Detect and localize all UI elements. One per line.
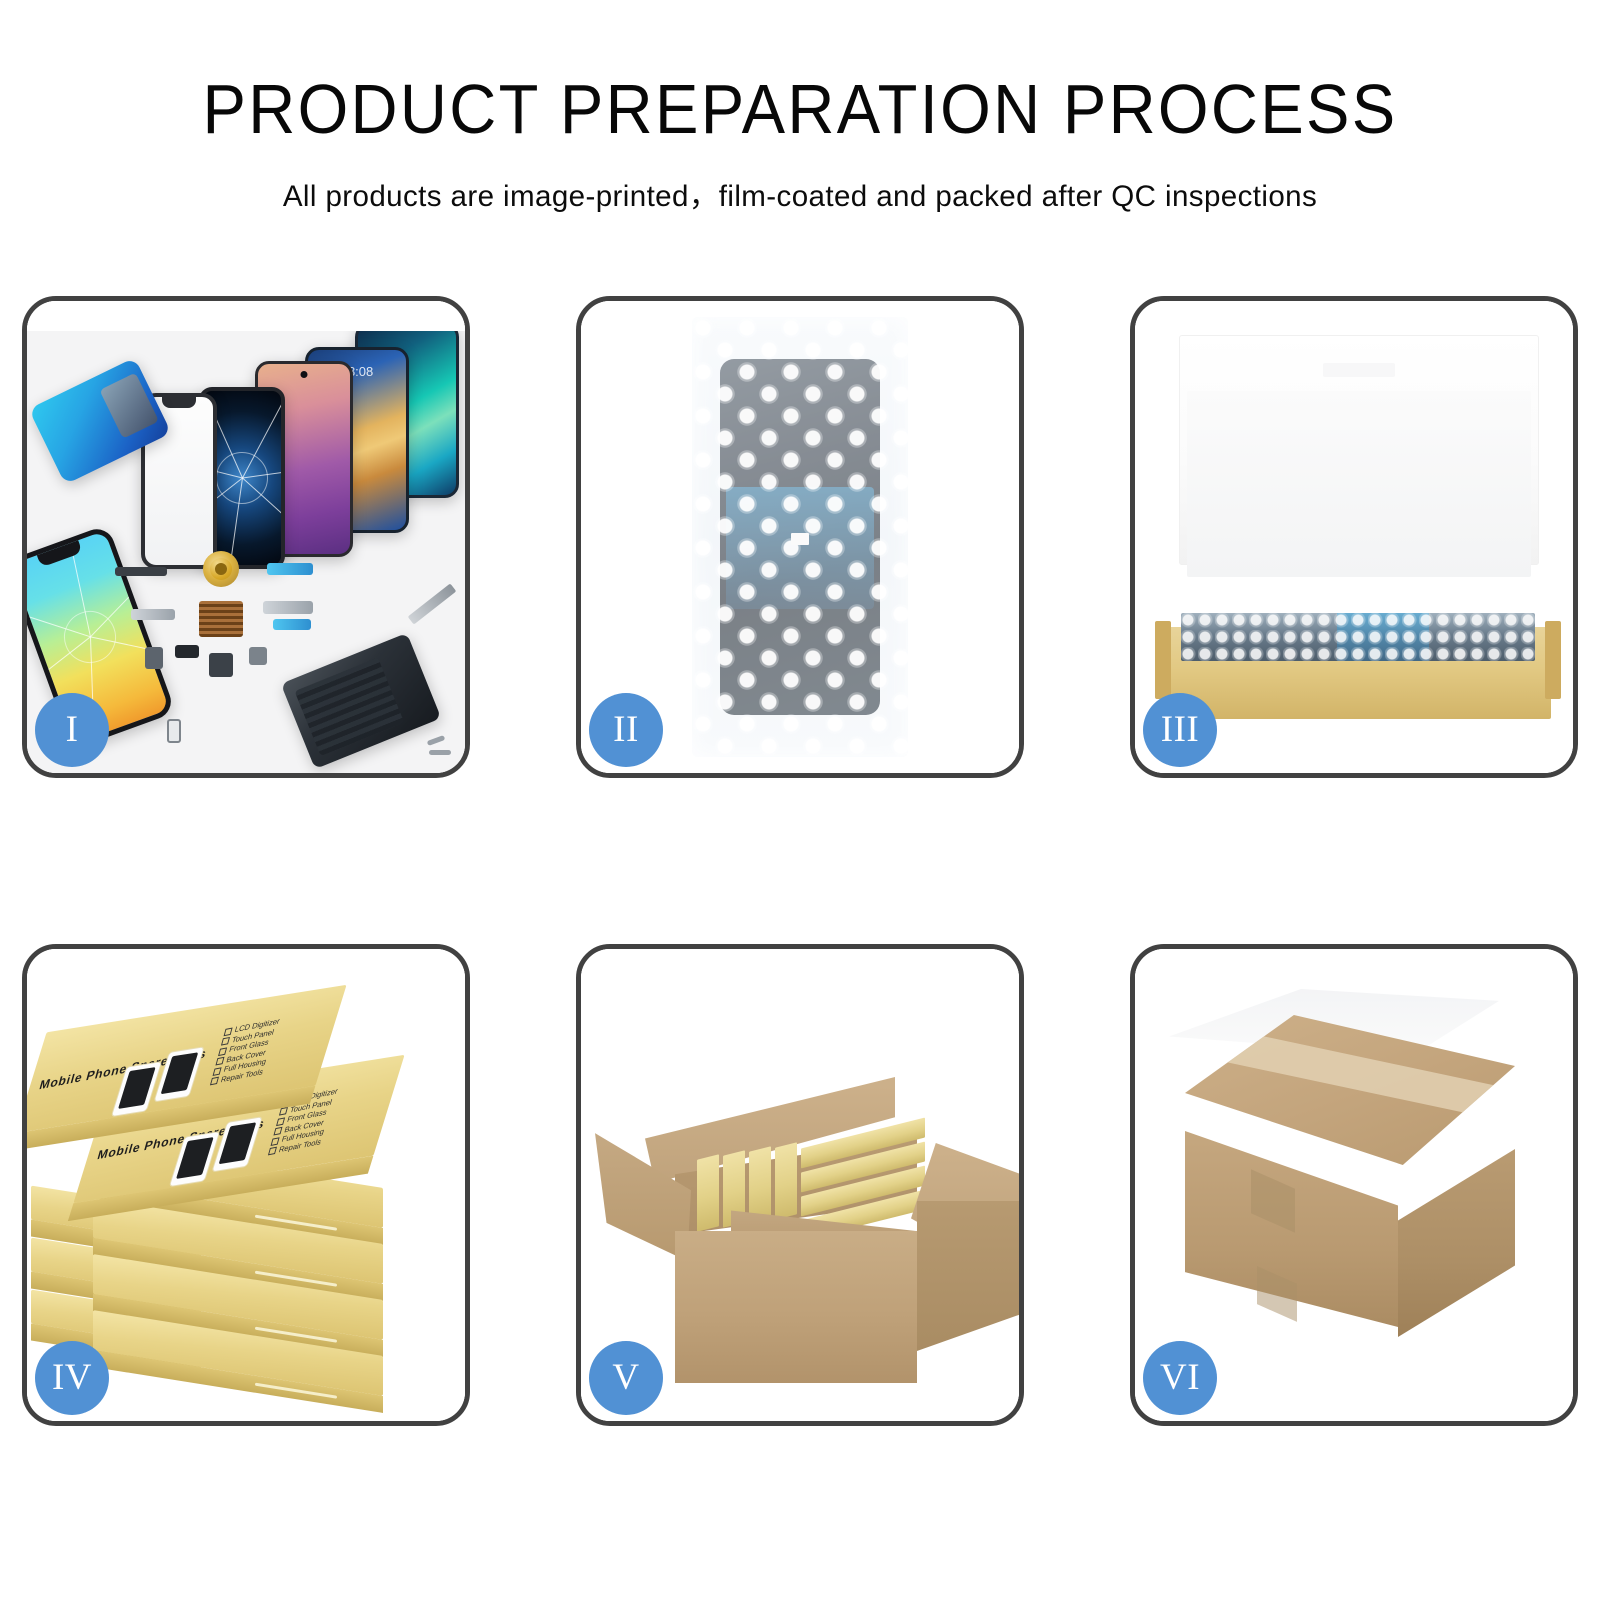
- bubble-wrapped-product-in-box: [1181, 613, 1535, 661]
- volume-flex-part: [273, 619, 311, 630]
- connector-part: [145, 647, 163, 669]
- screwdriver-tool-icon: [408, 583, 457, 624]
- power-flex-part: [131, 609, 175, 620]
- sensor-part: [249, 647, 267, 665]
- step-badge-1: I: [35, 693, 109, 767]
- grid-gap: [470, 296, 576, 778]
- grid-row-gap: [22, 778, 1578, 944]
- grid-gap: [1024, 296, 1130, 778]
- page-subtitle: All products are image-printed，film-coat…: [12, 171, 1588, 215]
- earpiece-speaker-part: [115, 567, 167, 576]
- grid-gap: [470, 944, 576, 1426]
- camera-module-part: [209, 653, 233, 677]
- step-badge-5: V: [589, 1341, 663, 1415]
- carton-side-face: [1398, 1149, 1515, 1337]
- bubble-wrap-package: [692, 317, 908, 757]
- gold-box-item: [697, 1154, 719, 1231]
- flex-cable-part: [267, 563, 313, 575]
- step-card-2[interactable]: II: [576, 296, 1024, 778]
- page-title: PRODUCT PREPARATION PROCESS: [56, 74, 1544, 144]
- step-card-4[interactable]: Mobile Phone Spare Parts LCD Digitizer T…: [22, 944, 470, 1426]
- button-flex-part: [263, 601, 313, 614]
- step-card-6[interactable]: VI: [1130, 944, 1578, 1426]
- infographic-page: PRODUCT PREPARATION PROCESS All products…: [0, 0, 1600, 1600]
- wireless-charging-coil: [203, 551, 239, 587]
- screw-part: [427, 735, 446, 746]
- retail-box-checklist: LCD Digitizer Touch Panel Front Glass Ba…: [209, 1016, 280, 1087]
- step-card-1[interactable]: I: [22, 296, 470, 778]
- carton-front-face: [675, 1231, 917, 1383]
- mailer-lid: [1179, 335, 1539, 565]
- page-header: PRODUCT PREPARATION PROCESS All products…: [0, 0, 1600, 215]
- carton-side-face: [917, 1201, 1019, 1351]
- sim-tray-part: [167, 719, 181, 743]
- phone-back-housing: [281, 633, 442, 769]
- step-badge-4: IV: [35, 1341, 109, 1415]
- step-card-5[interactable]: V: [576, 944, 1024, 1426]
- product-label-sticker: [791, 533, 809, 545]
- step-badge-3: III: [1143, 693, 1217, 767]
- step-badge-2: II: [589, 693, 663, 767]
- gold-box-item: [775, 1142, 797, 1219]
- screw-part: [429, 750, 451, 755]
- process-step-grid: I II: [22, 296, 1578, 1426]
- grid-gap: [1024, 944, 1130, 1426]
- step-badge-6: VI: [1143, 1341, 1217, 1415]
- vibration-motor-part: [175, 645, 199, 658]
- gold-box-item: [749, 1146, 771, 1223]
- blue-screen-tint: [1337, 613, 1429, 661]
- mailer-tab: [1323, 363, 1395, 377]
- ic-chip-icon: [199, 601, 243, 637]
- step-card-3[interactable]: III: [1130, 296, 1578, 778]
